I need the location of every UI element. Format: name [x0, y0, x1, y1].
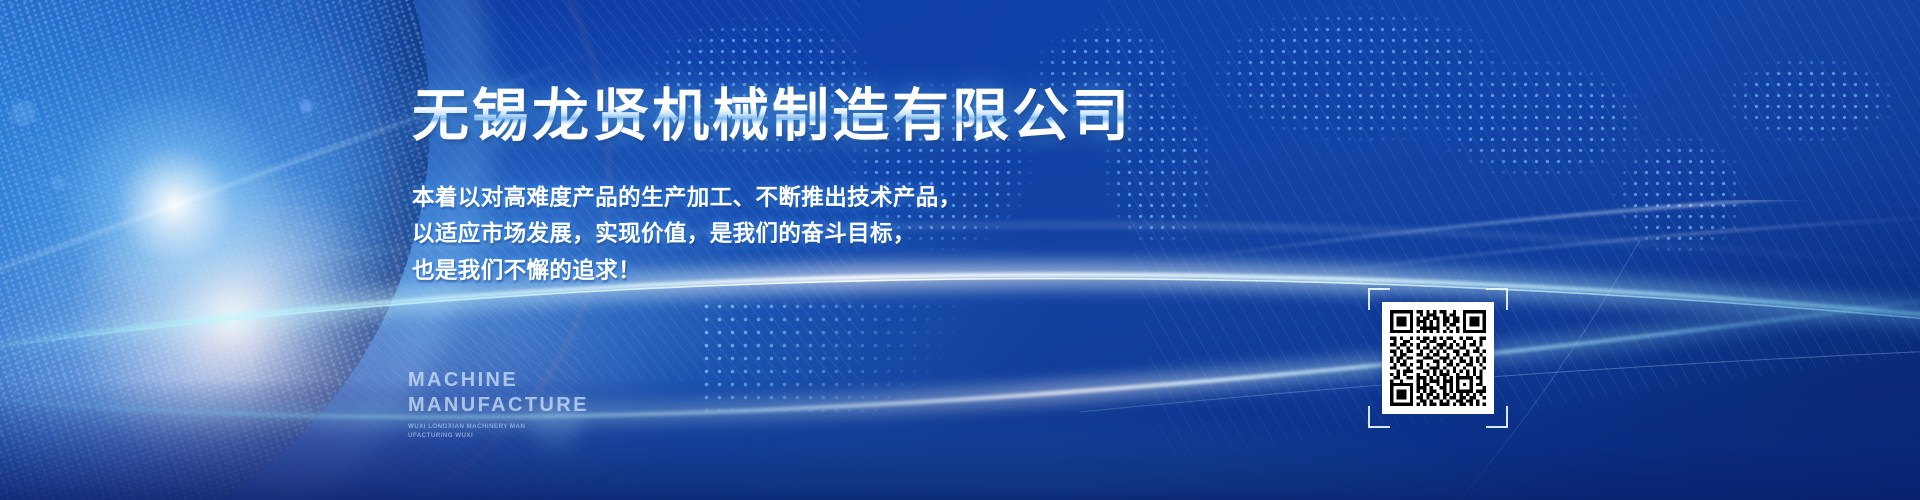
watermark-line-manufacture: MANUFACTURE — [408, 393, 589, 418]
company-title: 无锡龙贤机械制造有限公司 — [412, 86, 1132, 148]
company-slogan: 本着以对高难度产品的生产加工、不断推出技术产品， 以适应市场发展，实现价值，是我… — [412, 180, 962, 289]
watermark-caption-line-1: WUXI LONGXIAN MACHINERY MAN — [408, 423, 589, 432]
company-hero-banner: 无锡龙贤机械制造有限公司 本着以对高难度产品的生产加工、不断推出技术产品， 以适… — [0, 0, 1920, 500]
qr-code-card[interactable] — [1382, 302, 1494, 414]
slogan-line-1: 本着以对高难度产品的生产加工、不断推出技术产品， — [412, 180, 962, 216]
slogan-line-2: 以适应市场发展，实现价值，是我们的奋斗目标， — [412, 216, 962, 252]
watermark-caption: WUXI LONGXIAN MACHINERY MAN UFACTURING W… — [408, 423, 589, 441]
watermark-line-machine: MACHINE — [408, 368, 589, 393]
qr-code-icon[interactable] — [1390, 310, 1486, 406]
machine-manufacture-watermark: MACHINE MANUFACTURE WUXI LONGXIAN MACHIN… — [408, 368, 589, 441]
watermark-caption-line-2: UFACTURING WUXI — [408, 432, 589, 441]
qr-code-frame[interactable] — [1368, 288, 1508, 428]
slogan-line-3: 也是我们不懈的追求！ — [412, 253, 962, 289]
banner-content: 无锡龙贤机械制造有限公司 本着以对高难度产品的生产加工、不断推出技术产品， 以适… — [0, 0, 1920, 500]
